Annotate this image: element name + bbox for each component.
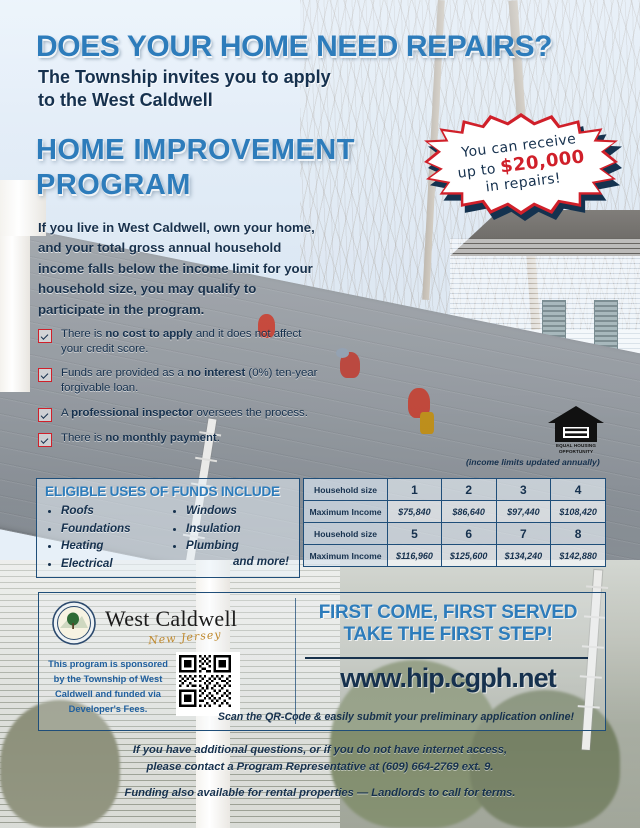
- household-size-cell: 1: [388, 479, 442, 501]
- table-row: Household size 5 6 7 8: [304, 523, 606, 545]
- award-amount-badge: You can receive up to $20,000 in repairs…: [424, 113, 618, 215]
- use-item: Foundations: [61, 520, 168, 538]
- checkbox-checked-icon: [38, 433, 52, 447]
- footer-line-1: If you have additional questions, or if …: [40, 742, 600, 759]
- household-size-cell: 4: [551, 479, 606, 501]
- income-cell: $97,440: [496, 501, 551, 523]
- table-row: Maximum Income $116,960 $125,600 $134,24…: [304, 545, 606, 567]
- panel-divider: [295, 598, 296, 724]
- income-cell: $142,880: [551, 545, 606, 567]
- use-item: Roofs: [61, 502, 168, 520]
- checkbox-checked-icon: [38, 368, 52, 382]
- list-item: Funds are provided as a no interest (0%)…: [38, 366, 318, 396]
- income-cell: $134,240: [496, 545, 551, 567]
- table-row: Maximum Income $75,840 $86,640 $97,440 $…: [304, 501, 606, 523]
- subheading: The Township invites you to apply to the…: [38, 66, 458, 112]
- use-item: Plumbing: [186, 537, 293, 555]
- household-size-cell: 5: [388, 523, 442, 545]
- use-item: Windows: [186, 502, 293, 520]
- eligible-uses-panel: ELIGIBLE USES OF FUNDS INCLUDE Roofs Fou…: [36, 478, 300, 578]
- equal-housing-icon: [545, 404, 607, 444]
- cta-rule: [305, 657, 588, 659]
- use-item: Heating: [61, 537, 168, 555]
- list-item: There is no monthly payment.: [38, 431, 318, 447]
- page-title: DOES YOUR HOME NEED REPAIRS?: [36, 30, 616, 64]
- row-header-maximum-income: Maximum Income: [304, 501, 388, 523]
- cta-headline: FIRST COME, FIRST SERVED TAKE THE FIRST …: [300, 602, 596, 646]
- sponsor-text: This program is sponsored by the Townshi…: [44, 657, 172, 717]
- benefits-list: There is no cost to apply and it does no…: [38, 327, 318, 456]
- benefit-text: There is no cost to apply and it does no…: [61, 327, 318, 357]
- use-item: Insulation: [186, 520, 293, 538]
- program-title-line-2: PROGRAM: [36, 168, 436, 203]
- benefit-text: Funds are provided as a no interest (0%)…: [61, 366, 318, 396]
- income-cell: $116,960: [388, 545, 442, 567]
- and-more-label: and more!: [168, 555, 293, 568]
- list-item: A professional inspector oversees the pr…: [38, 406, 318, 422]
- row-header-household-size: Household size: [304, 523, 388, 545]
- eligible-uses-title: ELIGIBLE USES OF FUNDS INCLUDE: [37, 479, 299, 502]
- household-size-cell: 3: [496, 479, 551, 501]
- footer-line-2: please contact a Program Representative …: [40, 759, 600, 776]
- subheading-line-2: to the West Caldwell: [38, 89, 458, 112]
- table-row: Household size 1 2 3 4: [304, 479, 606, 501]
- income-note: (income limits updated annually): [466, 457, 600, 467]
- equal-housing-logo: EQUAL HOUSING OPPORTUNITY: [545, 404, 607, 456]
- income-cell: $108,420: [551, 501, 606, 523]
- income-cell: $86,640: [441, 501, 496, 523]
- footer-line-3: Funding also available for rental proper…: [40, 785, 600, 802]
- checkbox-checked-icon: [38, 329, 52, 343]
- household-size-cell: 8: [551, 523, 606, 545]
- uses-column-right: Windows Insulation Plumbing and more!: [168, 502, 293, 572]
- subheading-line-1: The Township invites you to apply: [38, 66, 458, 89]
- program-title-line-1: HOME IMPROVEMENT: [36, 133, 436, 168]
- benefit-text: There is no monthly payment.: [61, 431, 220, 447]
- income-cell: $125,600: [441, 545, 496, 567]
- checkbox-checked-icon: [38, 408, 52, 422]
- income-limits-table: Household size 1 2 3 4 Maximum Income $7…: [303, 478, 606, 567]
- cta-line-2: TAKE THE FIRST STEP!: [300, 624, 596, 646]
- income-cell: $75,840: [388, 501, 442, 523]
- website-url[interactable]: www.hip.cgph.net: [300, 663, 596, 694]
- flyer-page: DOES YOUR HOME NEED REPAIRS? The Townshi…: [0, 0, 640, 828]
- qr-code-icon: [179, 655, 231, 707]
- uses-column-left: Roofs Foundations Heating Electrical: [43, 502, 168, 572]
- footer-contact: If you have additional questions, or if …: [40, 742, 600, 801]
- row-header-maximum-income: Maximum Income: [304, 545, 388, 567]
- equal-housing-label: EQUAL HOUSING OPPORTUNITY: [545, 443, 607, 454]
- township-seal-icon: [52, 601, 96, 645]
- scan-instructions: Scan the QR-Code & easily submit your pr…: [186, 711, 606, 723]
- household-size-cell: 2: [441, 479, 496, 501]
- qr-code[interactable]: [176, 652, 240, 716]
- household-size-cell: 6: [441, 523, 496, 545]
- intro-paragraph: If you live in West Caldwell, own your h…: [38, 218, 316, 320]
- benefit-text: A professional inspector oversees the pr…: [61, 406, 308, 422]
- list-item: There is no cost to apply and it does no…: [38, 327, 318, 357]
- use-item: Electrical: [61, 555, 168, 573]
- household-size-cell: 7: [496, 523, 551, 545]
- cta-line-1: FIRST COME, FIRST SERVED: [300, 602, 596, 624]
- row-header-household-size: Household size: [304, 479, 388, 501]
- program-title: HOME IMPROVEMENT PROGRAM: [36, 133, 436, 204]
